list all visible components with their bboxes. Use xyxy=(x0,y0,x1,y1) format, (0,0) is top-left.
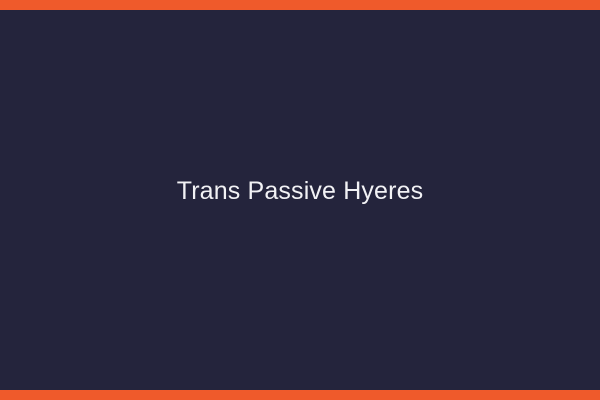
banner-title-container: Trans Passive Hyeres xyxy=(0,176,600,206)
banner-stage: Trans Passive Hyeres xyxy=(0,10,600,390)
top-accent-bar xyxy=(0,0,600,10)
placeholder-banner: Trans Passive Hyeres xyxy=(0,0,600,400)
page-title: Trans Passive Hyeres xyxy=(177,176,424,206)
bottom-accent-bar xyxy=(0,390,600,400)
